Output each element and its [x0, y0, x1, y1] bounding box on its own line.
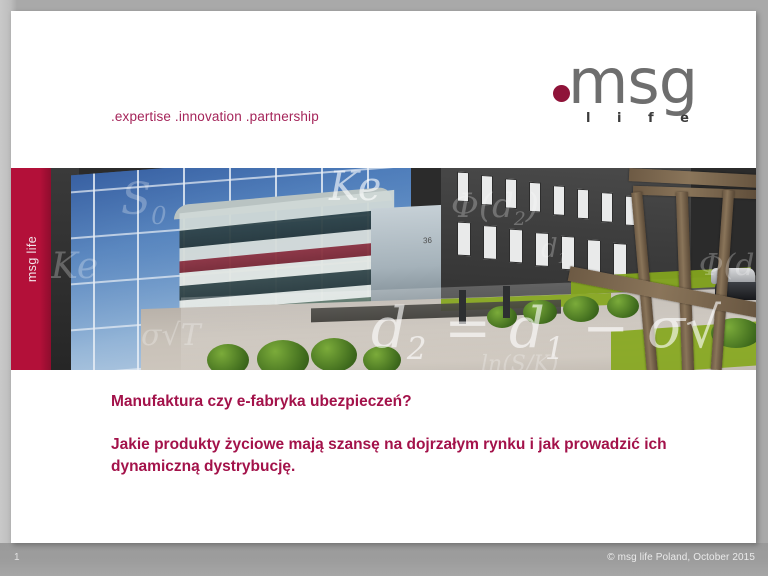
- footer-page-number: 1: [14, 552, 20, 563]
- photo-bollard-2: [503, 286, 510, 318]
- photo-bush-5: [487, 306, 517, 328]
- slide-body: Manufaktura czy e-fabryka ubezpieczeń? J…: [11, 370, 756, 543]
- slide-title: Manufaktura czy e-fabryka ubezpieczeń?: [111, 392, 711, 413]
- footer-copyright: © msg life Poland, October 2015: [607, 552, 755, 563]
- slide-header: .expertise .innovation .partnership msg …: [11, 11, 756, 168]
- photo-bush-3: [311, 338, 357, 370]
- brand-tagline: .expertise .innovation .partnership: [111, 109, 319, 124]
- photo-house-number: 36: [423, 236, 432, 245]
- msg-life-logo: msg l i f e: [532, 53, 722, 141]
- photo-bush-4: [363, 346, 401, 370]
- photo-bush-7: [563, 296, 599, 322]
- hero-photo: 36: [11, 168, 756, 370]
- title-block: Manufaktura czy e-fabryka ubezpieczeń? J…: [111, 392, 711, 478]
- photo-bollard-1: [459, 290, 466, 324]
- photo-bush-1: [207, 344, 249, 370]
- logo-wordmark: msg: [568, 51, 697, 113]
- photo-bush-6: [523, 300, 557, 324]
- presentation-slide[interactable]: .expertise .innovation .partnership msg …: [11, 11, 756, 543]
- brand-sidebar: msg life: [11, 168, 51, 370]
- photo-bush-8: [607, 294, 639, 318]
- logo-subword: l i f e: [586, 111, 700, 126]
- logo-wordmark-row: msg l i f e: [532, 53, 722, 115]
- hero-photo-canvas: 36: [11, 168, 756, 370]
- brand-sidebar-label: msg life: [25, 204, 39, 314]
- slide-subtitle: Jakie produkty życiowe mają szansę na do…: [111, 434, 711, 478]
- photo-bush-2: [257, 340, 309, 370]
